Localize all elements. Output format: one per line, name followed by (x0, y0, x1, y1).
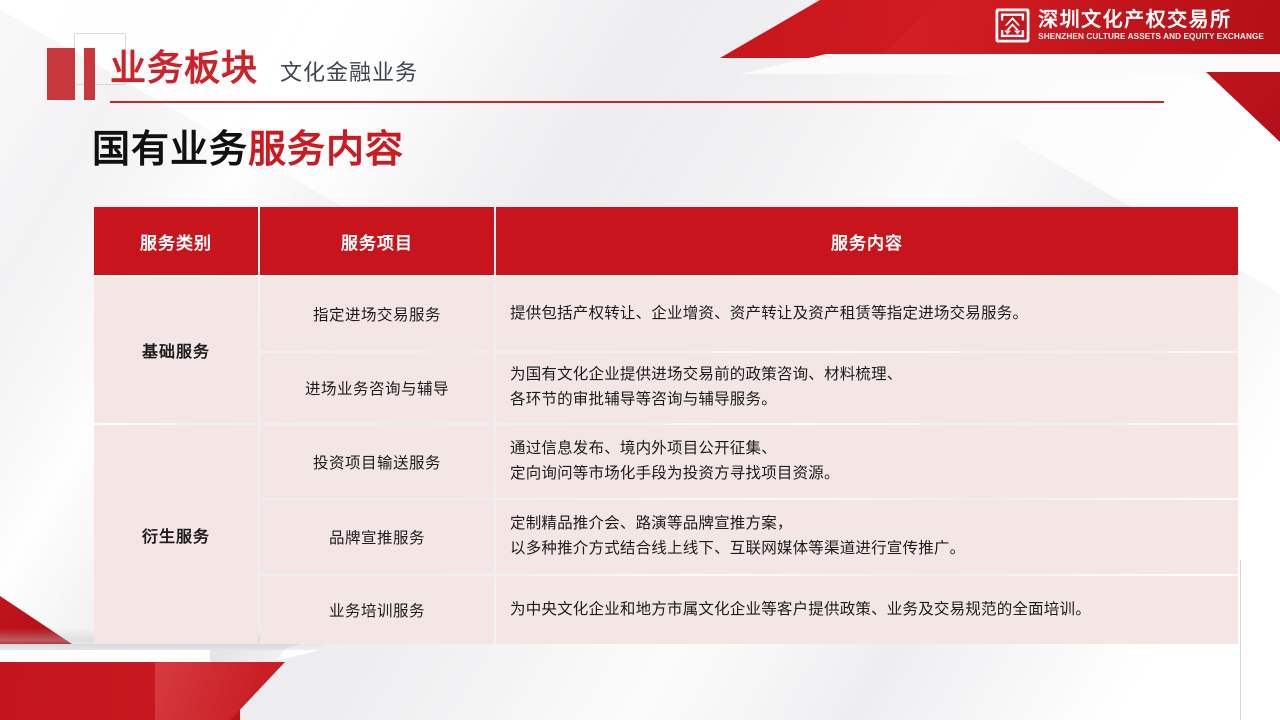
table-row: 业务培训服务 为中央文化企业和地方市属文化企业等客户提供政策、业务及交易规范的全… (94, 576, 1238, 644)
top-right-white-notch (740, 54, 1280, 74)
background-vertical-rule (1240, 560, 1241, 720)
description-cell: 为中央文化企业和地方市属文化企业等客户提供政策、业务及交易规范的全面培训。 (496, 576, 1238, 644)
service-table-body: 基础服务 指定进场交易服务 提供包括产权转让、企业增资、资产转让及资产租赁等指定… (94, 277, 1238, 644)
item-cell: 指定进场交易服务 (260, 277, 494, 351)
description-cell: 提供包括产权转让、企业增资、资产转让及资产租赁等指定进场交易服务。 (496, 277, 1238, 351)
table-row: 进场业务咨询与辅导 为国有文化企业提供进场交易前的政策咨询、材料梳理、 各环节的… (94, 353, 1238, 423)
service-table-head: 服务类别 服务项目 服务内容 (94, 207, 1238, 275)
item-cell: 投资项目输送服务 (260, 425, 494, 498)
description-line: 为中央文化企业和地方市属文化企业等客户提供政策、业务及交易规范的全面培训。 (510, 598, 1228, 623)
brand-text: 深圳文化产权交易所 SHENZHEN CULTURE ASSETS AND EQ… (1038, 10, 1264, 41)
section-label: 业务板块 (110, 50, 258, 86)
description-cell: 为国有文化企业提供进场交易前的政策咨询、材料梳理、 各环节的审批辅导等咨询与辅导… (496, 353, 1238, 423)
table-row: 基础服务 指定进场交易服务 提供包括产权转让、企业增资、资产转让及资产租赁等指定… (94, 277, 1238, 351)
description-line: 定向询问等市场化手段为投资方寻找项目资源。 (510, 462, 1228, 487)
column-header-content: 服务内容 (496, 207, 1238, 275)
service-table: 服务类别 服务项目 服务内容 基础服务 指定进场交易服务 提供包括产权转让、企业… (92, 205, 1240, 646)
description-line: 各环节的审批辅导等咨询与辅导服务。 (510, 388, 1228, 413)
description-line: 提供包括产权转让、企业增资、资产转让及资产租赁等指定进场交易服务。 (510, 302, 1228, 327)
description-line: 定制精品推介会、路演等品牌宣推方案， (510, 512, 1228, 537)
column-header-item: 服务项目 (260, 207, 494, 275)
page-title-red: 服务内容 (248, 129, 404, 171)
description-line: 为国有文化企业提供进场交易前的政策咨询、材料梳理、 (510, 363, 1228, 388)
brand-name-en: SHENZHEN CULTURE ASSETS AND EQUITY EXCHA… (1038, 33, 1264, 41)
page-title-black: 国有业务 (92, 129, 248, 171)
page-title: 国有业务服务内容 (92, 130, 404, 172)
description-cell: 定制精品推介会、路演等品牌宣推方案， 以多种推介方式结合线上线下、互联网媒体等渠… (496, 500, 1238, 574)
table-header-row: 服务类别 服务项目 服务内容 (94, 207, 1238, 275)
column-header-category: 服务类别 (94, 207, 258, 275)
section-accent-bars (47, 48, 95, 100)
brand-logo: 深圳文化产权交易所 SHENZHEN CULTURE ASSETS AND EQ… (994, 7, 1264, 44)
category-cell-basic: 基础服务 (94, 277, 258, 423)
brand-name-cn: 深圳文化产权交易所 (1038, 10, 1264, 30)
section-accent-bar-thin (84, 48, 95, 100)
sczqjys-emblem-icon (994, 7, 1031, 44)
section-sublabel: 文化金融业务 (280, 62, 418, 84)
table-row: 品牌宣推服务 定制精品推介会、路演等品牌宣推方案， 以多种推介方式结合线上线下、… (94, 500, 1238, 574)
section-heading: 业务板块 文化金融业务 (110, 50, 418, 86)
section-divider-rule (110, 101, 1164, 103)
item-cell: 业务培训服务 (260, 576, 494, 644)
slide-root: 深圳文化产权交易所 SHENZHEN CULTURE ASSETS AND EQ… (0, 0, 1280, 720)
description-cell: 通过信息发布、境内外项目公开征集、 定向询问等市场化手段为投资方寻找项目资源。 (496, 425, 1238, 498)
description-line: 以多种推介方式结合线上线下、互联网媒体等渠道进行宣传推广。 (510, 537, 1228, 562)
table-row: 衍生服务 投资项目输送服务 通过信息发布、境内外项目公开征集、 定向询问等市场化… (94, 425, 1238, 498)
item-cell: 品牌宣推服务 (260, 500, 494, 574)
item-cell: 进场业务咨询与辅导 (260, 353, 494, 423)
description-line: 通过信息发布、境内外项目公开征集、 (510, 437, 1228, 462)
section-accent-bar-wide (47, 48, 75, 100)
category-cell-derivative: 衍生服务 (94, 425, 258, 644)
